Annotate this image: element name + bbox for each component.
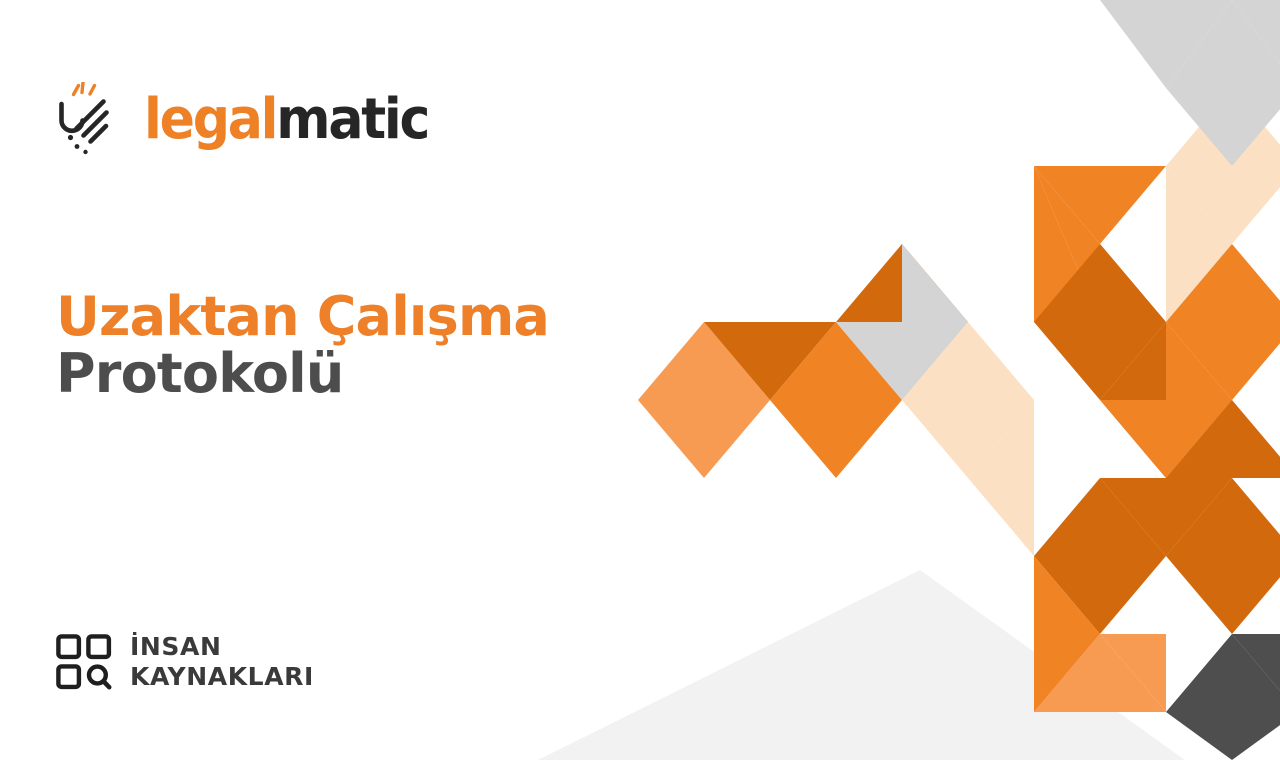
- grid-square-bottom-left: [58, 666, 79, 687]
- grid-square-top-left: [58, 636, 79, 657]
- mosaic-triangle-t26: [1034, 478, 1166, 556]
- mosaic-triangle-t29: [1100, 478, 1232, 556]
- mosaic-triangle-t01: [638, 400, 770, 478]
- mosaic-triangle-t18: [1166, 88, 1280, 166]
- mosaic-triangle-t30: [1166, 478, 1280, 556]
- wordmark-legal: legal: [144, 87, 276, 152]
- department-badge: İNSAN KAYNAKLARI: [56, 632, 314, 691]
- mosaic-triangle-t35: [1166, 634, 1280, 712]
- department-label: İNSAN KAYNAKLARI: [130, 632, 314, 691]
- mosaic-triangle-t24: [1100, 400, 1232, 478]
- mosaic-triangle-t25: [1166, 400, 1280, 478]
- mosaic-triangle-t15: [1034, 244, 1166, 322]
- mosaic-triangle-t14: [1034, 166, 1166, 322]
- mosaic-triangle-t11: [968, 400, 1034, 556]
- wordmark-matic: matic: [276, 87, 428, 152]
- page-title-line-2: Protokolü: [56, 345, 549, 402]
- mosaic-triangle-t39: [1166, 0, 1280, 88]
- mosaic-triangle-t12: [1034, 166, 1166, 244]
- mosaic-triangle-t19: [1166, 166, 1280, 244]
- triangle-layer: [638, 0, 1280, 760]
- page-title-line-1: Uzaktan Çalışma: [56, 288, 549, 345]
- page-title: Uzaktan Çalışma Protokolü: [56, 288, 549, 402]
- mosaic-triangle-t40: [1166, 88, 1280, 166]
- mosaic-triangle-t23: [1166, 322, 1232, 478]
- wedge-layer: [538, 570, 1185, 760]
- mosaic-triangle-t41: [1232, 0, 1280, 88]
- brand-wordmark: legalmatic: [144, 92, 428, 148]
- legalmatic-gavel-swoosh-mark: [52, 82, 126, 158]
- mosaic-triangle-t34: [1100, 634, 1166, 712]
- mosaic-triangle-t32: [1034, 556, 1100, 712]
- grid-square-top-right: [88, 636, 109, 657]
- mosaic-triangle-t02: [638, 322, 770, 400]
- mosaic-triangle-t28: [1034, 556, 1166, 634]
- department-line-1: İNSAN: [130, 632, 314, 662]
- mosaic-triangle-t06: [836, 244, 968, 322]
- mosaic-triangle-t10: [902, 400, 1034, 478]
- mosaic-triangle-t16: [1034, 322, 1166, 400]
- brand-logo[interactable]: legalmatic: [52, 82, 450, 158]
- department-line-2: KAYNAKLARI: [130, 662, 314, 692]
- mosaic-triangle-t09: [902, 322, 1034, 400]
- mosaic-triangle-t03: [704, 322, 836, 400]
- mosaic-triangle-t08: [902, 244, 968, 400]
- mosaic-triangle-t13: [1034, 166, 1100, 322]
- bottom-light-gray-wedge: [538, 570, 1185, 760]
- mosaic-triangle-t20: [1166, 166, 1232, 322]
- cover-page: legalmatic Uzaktan Çalışma Protokolü İNS…: [0, 0, 1280, 760]
- mosaic-triangle-t36: [1166, 712, 1280, 760]
- mosaic-triangle-t07: [836, 322, 968, 400]
- grid-search-icon: [56, 634, 112, 690]
- mosaic-triangle-t05: [770, 400, 902, 478]
- mosaic-triangle-t37: [1232, 634, 1280, 712]
- mosaic-triangle-t22: [1166, 322, 1280, 400]
- magnifier-handle: [104, 681, 110, 687]
- mosaic-triangle-t21: [1166, 244, 1280, 322]
- mosaic-triangle-t33: [1034, 634, 1166, 712]
- mosaic-triangle-t38: [1100, 0, 1232, 88]
- mosaic-triangle-t31: [1166, 556, 1280, 634]
- mosaic-triangle-t04: [770, 322, 902, 400]
- mosaic-triangle-t17: [1100, 322, 1166, 478]
